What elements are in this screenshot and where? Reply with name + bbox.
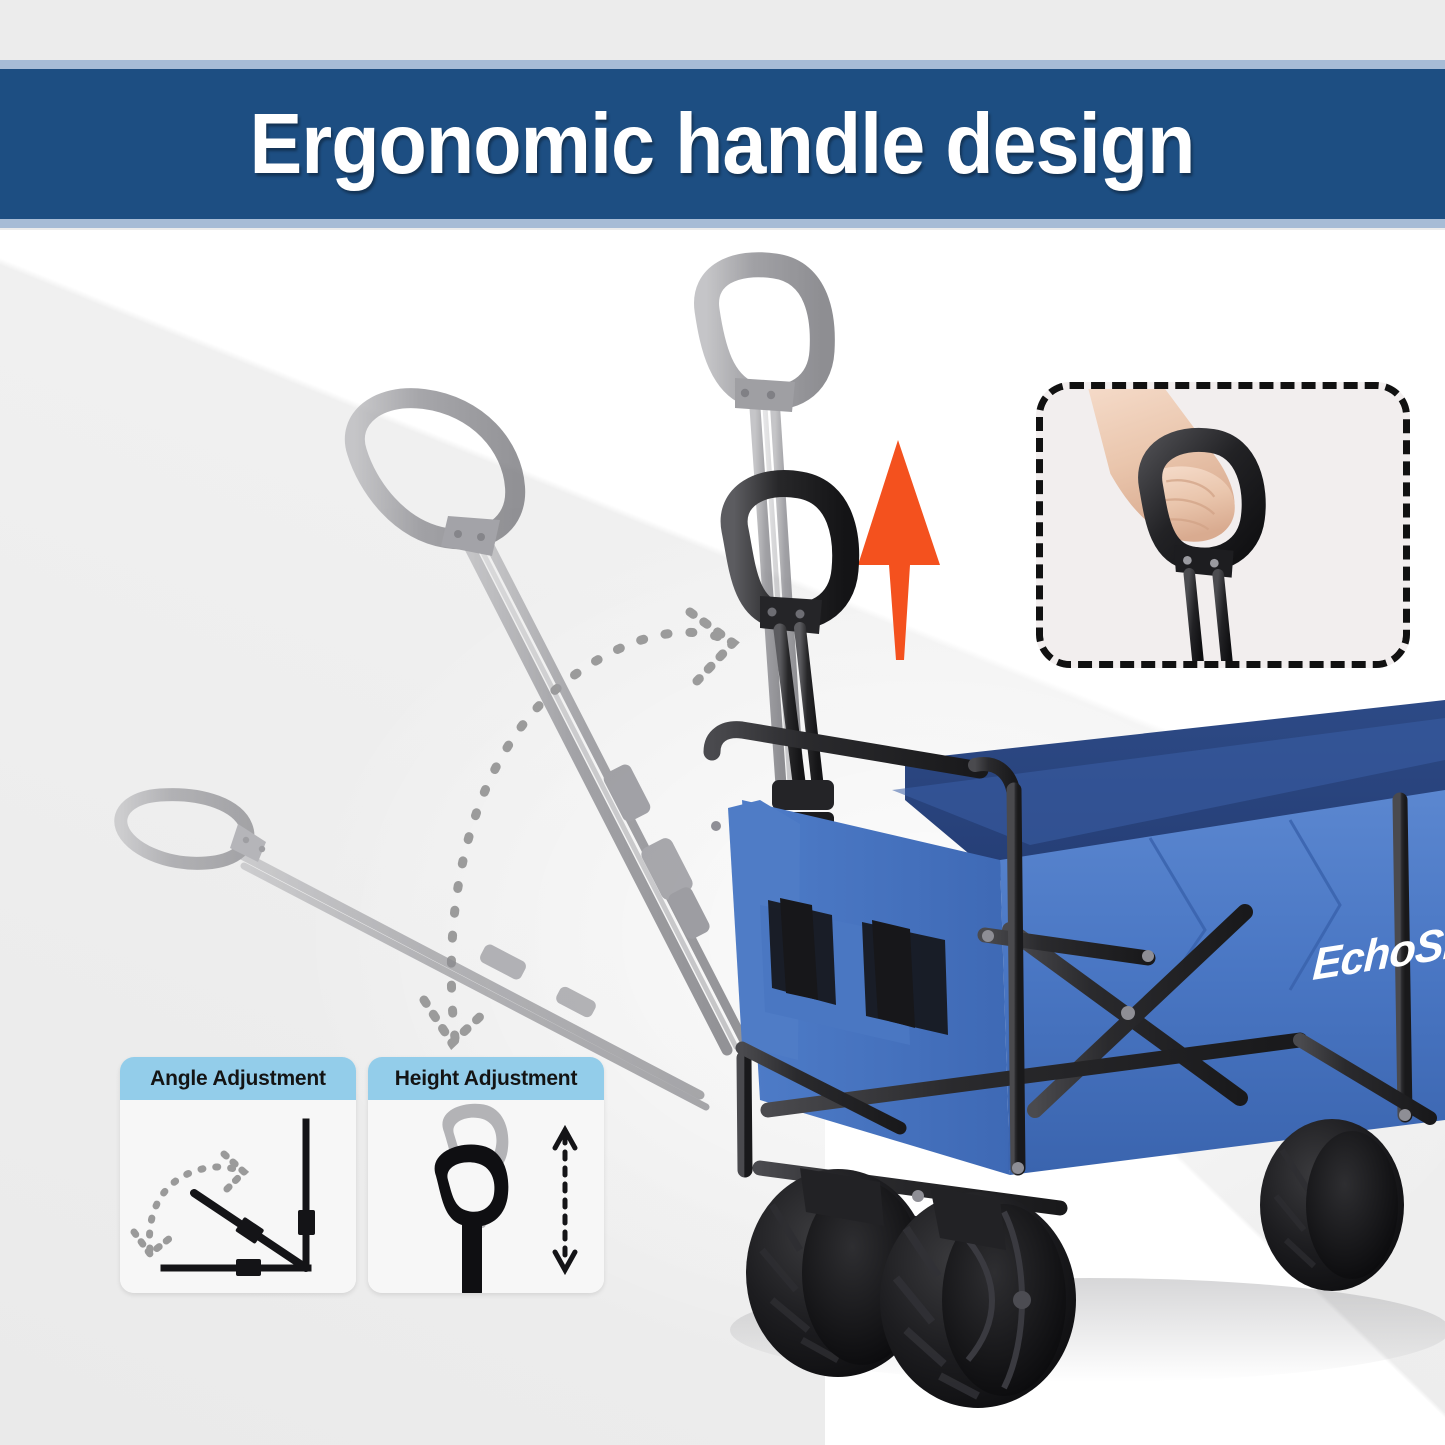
card-height-adjustment-title: Height Adjustment bbox=[368, 1057, 604, 1100]
card-height-adjustment-body bbox=[368, 1100, 604, 1293]
telescoping-handle-diagram bbox=[368, 1100, 604, 1293]
feature-cards: Angle Adjustment bbox=[120, 1057, 604, 1293]
hand-grip-illustration bbox=[1043, 389, 1403, 664]
height-double-arrow bbox=[555, 1130, 575, 1270]
card-height-adjustment[interactable]: Height Adjustment bbox=[368, 1057, 604, 1293]
hand-grip-inset bbox=[1036, 382, 1410, 668]
background-corner-wedge bbox=[825, 1025, 1445, 1445]
pivot-block-vertical bbox=[298, 1210, 315, 1235]
product-feature-image: Ergonomic handle design bbox=[0, 0, 1445, 1445]
card-angle-adjustment-body bbox=[120, 1100, 356, 1293]
card-angle-adjustment[interactable]: Angle Adjustment bbox=[120, 1057, 356, 1293]
card-angle-adjustment-title: Angle Adjustment bbox=[120, 1057, 356, 1100]
angle-arc-arrow-top bbox=[224, 1154, 244, 1190]
header-banner: Ergonomic handle design bbox=[0, 60, 1445, 228]
angle-pivot-diagram bbox=[120, 1100, 356, 1293]
angle-dotted-arc bbox=[149, 1167, 242, 1250]
page-title: Ergonomic handle design bbox=[250, 102, 1195, 187]
pivot-block-horizontal bbox=[236, 1259, 261, 1276]
